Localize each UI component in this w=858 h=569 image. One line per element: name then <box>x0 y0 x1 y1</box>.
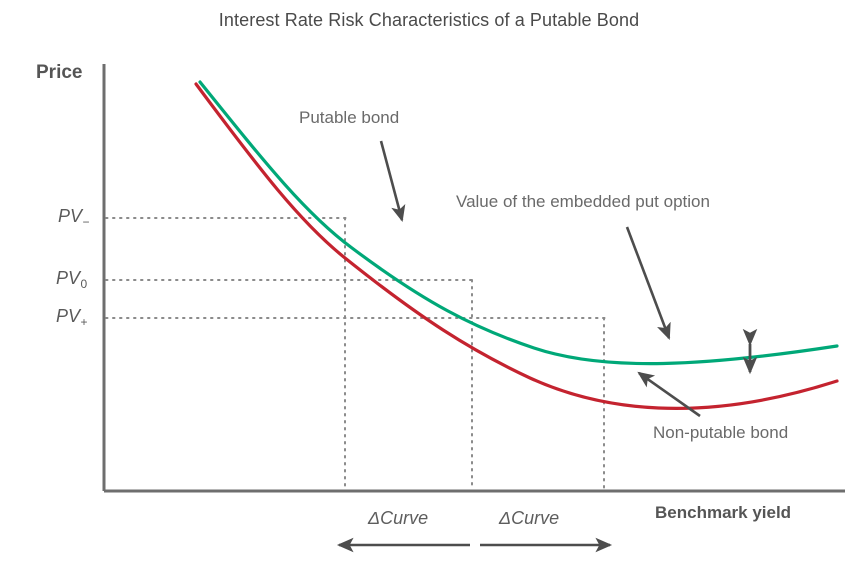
chart-figure: Interest Rate Risk Characteristics of a … <box>0 0 858 569</box>
axis-lines <box>104 64 845 491</box>
series-putable-bond-curve <box>200 82 837 364</box>
reference-lines-vertical <box>345 218 604 490</box>
chart-plot-area <box>0 0 858 569</box>
leader-line-putable-bond <box>381 141 402 220</box>
leader-line-put-option-value <box>627 227 669 338</box>
